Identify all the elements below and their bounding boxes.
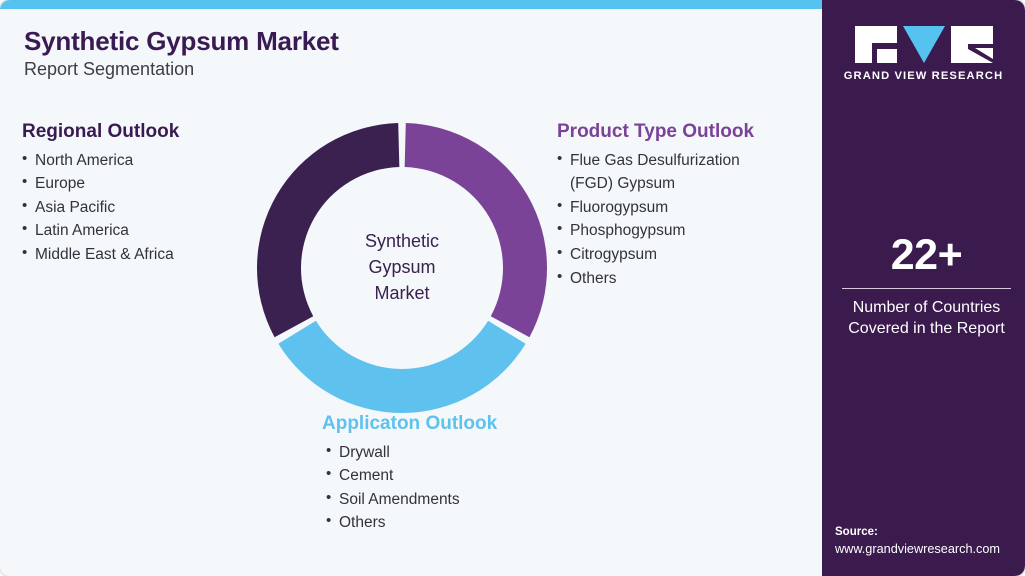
logo-g-icon [855,26,897,63]
source-block: Source: www.grandviewresearch.com [835,524,1017,558]
list-item: Soil Amendments [322,488,572,512]
list-item-label: Latin America [35,222,129,239]
donut-chart: Synthetic Gypsum Market [256,122,548,414]
list-item-label-continuation: (FGD) Gypsum [570,172,807,196]
list-item: Flue Gas Desulfurization (FGD) Gypsum [557,149,807,196]
donut-segment [405,123,547,337]
regional-outlook-block: Regional Outlook North America Europe As… [22,121,252,267]
list-item-label: Citrogypsum [570,246,657,263]
top-accent-strip [0,0,822,9]
stat-divider [842,288,1011,289]
list-item: Asia Pacific [22,196,252,220]
regional-outlook-heading: Regional Outlook [22,121,252,144]
infographic-card: Synthetic Gypsum Market Report Segmentat… [0,0,1025,576]
application-outlook-list: Drywall Cement Soil Amendments Others [322,441,572,535]
list-item-label: Middle East & Africa [35,246,174,263]
list-item: Others [322,511,572,535]
page-title: Synthetic Gypsum Market [24,26,339,57]
donut-segment [278,321,525,413]
list-item: Phosphogypsum [557,219,807,243]
main-content-area: Synthetic Gypsum Market Report Segmentat… [0,9,822,576]
list-item-label: Drywall [339,444,390,461]
grand-view-research-logo: GRAND VIEW RESEARCH [822,26,1025,82]
list-item: Drywall [322,441,572,465]
branding-side-panel: GRAND VIEW RESEARCH 22+ Number of Countr… [822,0,1025,576]
list-item: Latin America [22,219,252,243]
page-subtitle: Report Segmentation [24,59,194,80]
stat-value: 22+ [842,234,1011,277]
stat-caption-line-2: Covered in the Report [842,318,1011,339]
stat-caption: Number of Countries Covered in the Repor… [842,297,1011,339]
list-item-label: Flue Gas Desulfurization [570,152,740,169]
source-url[interactable]: www.grandviewresearch.com [835,541,1017,558]
list-item-label: Europe [35,175,85,192]
list-item-label: Others [570,270,617,287]
regional-outlook-list: North America Europe Asia Pacific Latin … [22,149,252,267]
logo-v-icon [903,26,945,63]
countries-stat-block: 22+ Number of Countries Covered in the R… [842,234,1011,339]
application-outlook-block: Applicaton Outlook Drywall Cement Soil A… [322,413,572,535]
product-type-outlook-heading: Product Type Outlook [557,121,807,144]
list-item-label: Soil Amendments [339,491,460,508]
application-outlook-heading: Applicaton Outlook [322,413,572,436]
logo-wordmark: GRAND VIEW RESEARCH [844,70,1004,82]
logo-r-icon [951,26,993,63]
list-item-label: Others [339,514,386,531]
source-label: Source: [835,524,1017,541]
donut-chart-svg [256,122,548,414]
list-item-label: Fluorogypsum [570,199,668,216]
list-item-label: Phosphogypsum [570,222,685,239]
list-item: Cement [322,464,572,488]
list-item: Europe [22,172,252,196]
donut-segment [257,123,399,337]
list-item: Middle East & Africa [22,243,252,267]
stat-caption-line-1: Number of Countries [842,297,1011,318]
list-item: Others [557,267,807,291]
list-item-label: North America [35,152,133,169]
list-item: Fluorogypsum [557,196,807,220]
logo-letter-marks [855,26,993,63]
product-type-outlook-list: Flue Gas Desulfurization (FGD) Gypsum Fl… [557,149,807,290]
list-item-label: Cement [339,467,393,484]
product-type-outlook-block: Product Type Outlook Flue Gas Desulfuriz… [557,121,807,290]
list-item: North America [22,149,252,173]
list-item-label: Asia Pacific [35,199,115,216]
list-item: Citrogypsum [557,243,807,267]
